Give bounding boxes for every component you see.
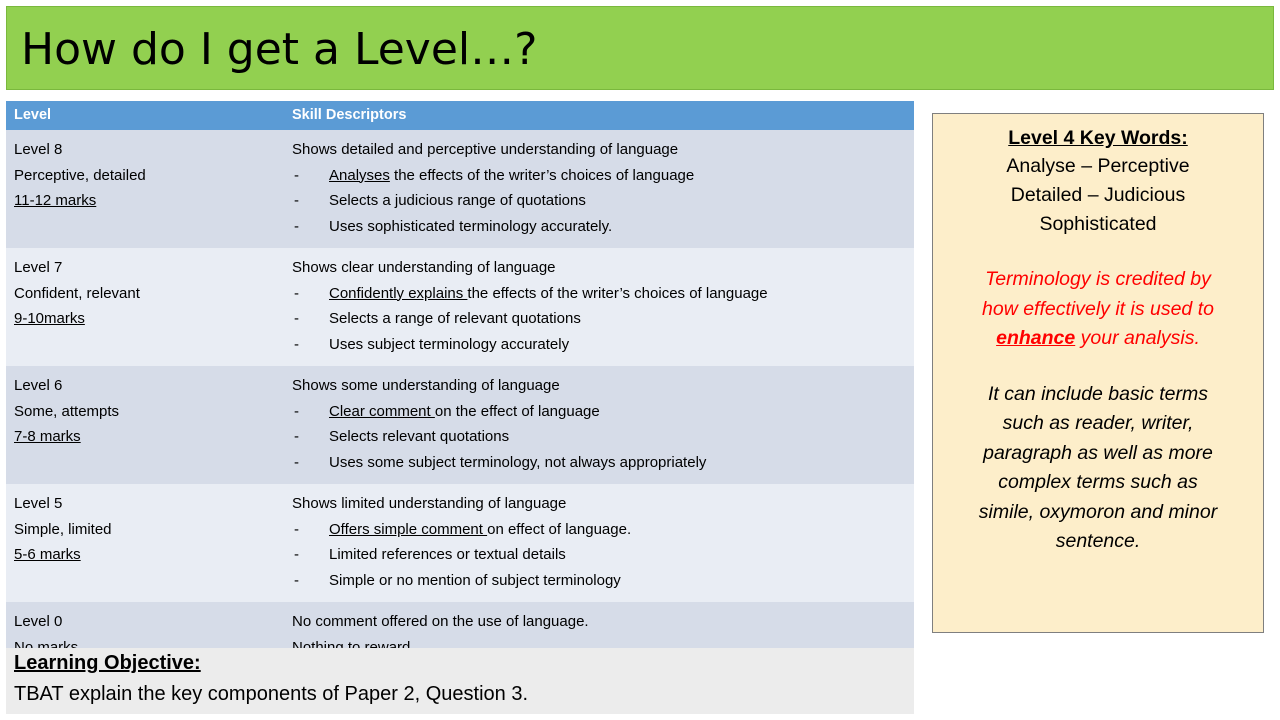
level-cell: Level 6 Some, attempts 7-8 marks (6, 366, 284, 484)
bullet-lead: Analyses (329, 167, 390, 184)
skill-descriptors-cell: Shows some understanding of language -Cl… (284, 366, 914, 484)
level-cell: Level 8 Perceptive, detailed 11-12 marks (6, 130, 284, 248)
level-marks: 7-8 marks (14, 424, 276, 450)
slide: How do I get a Level…? Level Skill Descr… (0, 0, 1280, 720)
list-item: -Selects relevant quotations (292, 424, 906, 450)
learning-objective-title: Learning Objective: (14, 652, 201, 675)
key-words-note-line: such as reader, writer, (941, 409, 1255, 439)
list-item: -Selects a judicious range of quotations (292, 188, 906, 214)
spacer (941, 239, 1255, 265)
bullet-text: Selects a judicious range of quotations (329, 192, 586, 209)
terminology-note-line: enhance your analysis. (941, 324, 1255, 354)
key-words-box: Level 4 Key Words: Analyse – Perceptive … (932, 113, 1264, 633)
skill-descriptors-cell: Shows limited understanding of language … (284, 484, 914, 602)
table-row: Level 8 Perceptive, detailed 11-12 marks… (6, 130, 914, 248)
dash-marker: - (294, 332, 299, 358)
level-marks: 9-10marks (14, 306, 276, 332)
key-words-note-line: complex terms such as (941, 468, 1255, 498)
list-item: -Offers simple comment on effect of lang… (292, 517, 906, 543)
bullet-lead: Clear comment (329, 403, 435, 420)
learning-objective-panel: Learning Objective: TBAT explain the key… (6, 648, 914, 714)
list-item: -Simple or no mention of subject termino… (292, 568, 906, 594)
level-name: Level 8 (14, 137, 276, 163)
bullet-text: the effects of the writer’s choices of l… (467, 285, 767, 302)
key-words-title: Level 4 Key Words: (941, 124, 1255, 152)
bullet-lead: Confidently explains (329, 285, 467, 302)
list-item: -Uses sophisticated terminology accurate… (292, 214, 906, 240)
level-marks: 5-6 marks (14, 542, 276, 568)
dash-marker: - (294, 188, 299, 214)
levels-table: Level Skill Descriptors Level 8 Percepti… (6, 101, 914, 669)
table-row: Level 7 Confident, relevant 9-10marks Sh… (6, 248, 914, 366)
list-item: -Confidently explains the effects of the… (292, 281, 906, 307)
level-cell: Level 5 Simple, limited 5-6 marks (6, 484, 284, 602)
list-item: -Uses some subject terminology, not alwa… (292, 450, 906, 476)
terminology-note-line: Terminology is credited by (941, 265, 1255, 295)
bullet-text: Uses sophisticated terminology accuratel… (329, 218, 612, 235)
bullet-text: on effect of language. (487, 521, 631, 538)
bullet-text: Selects a range of relevant quotations (329, 310, 581, 327)
list-item: -Clear comment on the effect of language (292, 399, 906, 425)
dash-marker: - (294, 281, 299, 307)
skill-descriptors-cell: Shows detailed and perceptive understand… (284, 130, 914, 248)
table-header-row: Level Skill Descriptors (6, 101, 914, 130)
dash-marker: - (294, 542, 299, 568)
descriptor-heading: Shows detailed and perceptive understand… (292, 137, 906, 163)
bullet-text: Uses subject terminology accurately (329, 336, 569, 353)
bullet-text: Limited references or textual details (329, 546, 566, 563)
footer-filler (914, 648, 1274, 714)
key-words-note-line: simile, oxymoron and minor (941, 498, 1255, 528)
terminology-note-line: how effectively it is used to (941, 295, 1255, 325)
level-descriptor: Some, attempts (14, 399, 276, 425)
dash-marker: - (294, 450, 299, 476)
bullet-lead: Offers simple comment (329, 521, 487, 538)
dash-marker: - (294, 163, 299, 189)
descriptor-heading: Shows some understanding of language (292, 373, 906, 399)
level-descriptor: Confident, relevant (14, 281, 276, 307)
table-row: Level 6 Some, attempts 7-8 marks Shows s… (6, 366, 914, 484)
spacer (941, 354, 1255, 380)
dash-marker: - (294, 399, 299, 425)
bullet-text: on the effect of language (435, 403, 600, 420)
dash-marker: - (294, 517, 299, 543)
emphasis-enhance: enhance (996, 327, 1075, 349)
terminology-note-tail: your analysis. (1075, 327, 1200, 349)
level-name: Level 6 (14, 373, 276, 399)
table-row: Level 5 Simple, limited 5-6 marks Shows … (6, 484, 914, 602)
level-name: Level 5 (14, 491, 276, 517)
bullet-text: Selects relevant quotations (329, 428, 509, 445)
dash-marker: - (294, 214, 299, 240)
bullet-text: Simple or no mention of subject terminol… (329, 572, 621, 589)
dash-marker: - (294, 424, 299, 450)
column-header-skill-descriptors: Skill Descriptors (284, 101, 914, 130)
list-item: -Analyses the effects of the writer’s ch… (292, 163, 906, 189)
level-marks: 11-12 marks (14, 188, 276, 214)
level-descriptor: Simple, limited (14, 517, 276, 543)
list-item: -Uses subject terminology accurately (292, 332, 906, 358)
skill-descriptors-cell: Shows clear understanding of language -C… (284, 248, 914, 366)
page-title: How do I get a Level…? (21, 25, 537, 75)
level-cell: Level 7 Confident, relevant 9-10marks (6, 248, 284, 366)
key-words-note-line: sentence. (941, 527, 1255, 557)
descriptor-heading: Shows clear understanding of language (292, 255, 906, 281)
title-banner: How do I get a Level…? (6, 6, 1274, 90)
descriptor-heading: Shows limited understanding of language (292, 491, 906, 517)
learning-objective-text: TBAT explain the key components of Paper… (14, 683, 528, 706)
key-words-line: Detailed – Judicious (941, 181, 1255, 210)
key-words-line: Sophisticated (941, 210, 1255, 239)
level-descriptor: Perceptive, detailed (14, 163, 276, 189)
descriptor-heading: No comment offered on the use of languag… (292, 609, 906, 635)
level-name: Level 7 (14, 255, 276, 281)
descriptor-bullets: -Analyses the effects of the writer’s ch… (292, 163, 906, 240)
key-words-note-line: paragraph as well as more (941, 439, 1255, 469)
list-item: -Selects a range of relevant quotations (292, 306, 906, 332)
key-words-line: Analyse – Perceptive (941, 152, 1255, 181)
bullet-text: Uses some subject terminology, not alway… (329, 454, 706, 471)
descriptor-bullets: -Offers simple comment on effect of lang… (292, 517, 906, 594)
list-item: -Limited references or textual details (292, 542, 906, 568)
descriptor-bullets: -Clear comment on the effect of language… (292, 399, 906, 476)
dash-marker: - (294, 568, 299, 594)
key-words-note-line: It can include basic terms (941, 380, 1255, 410)
bullet-text: the effects of the writer’s choices of l… (390, 167, 694, 184)
dash-marker: - (294, 306, 299, 332)
descriptor-bullets: -Confidently explains the effects of the… (292, 281, 906, 358)
column-header-level: Level (6, 101, 284, 130)
level-name: Level 0 (14, 609, 276, 635)
